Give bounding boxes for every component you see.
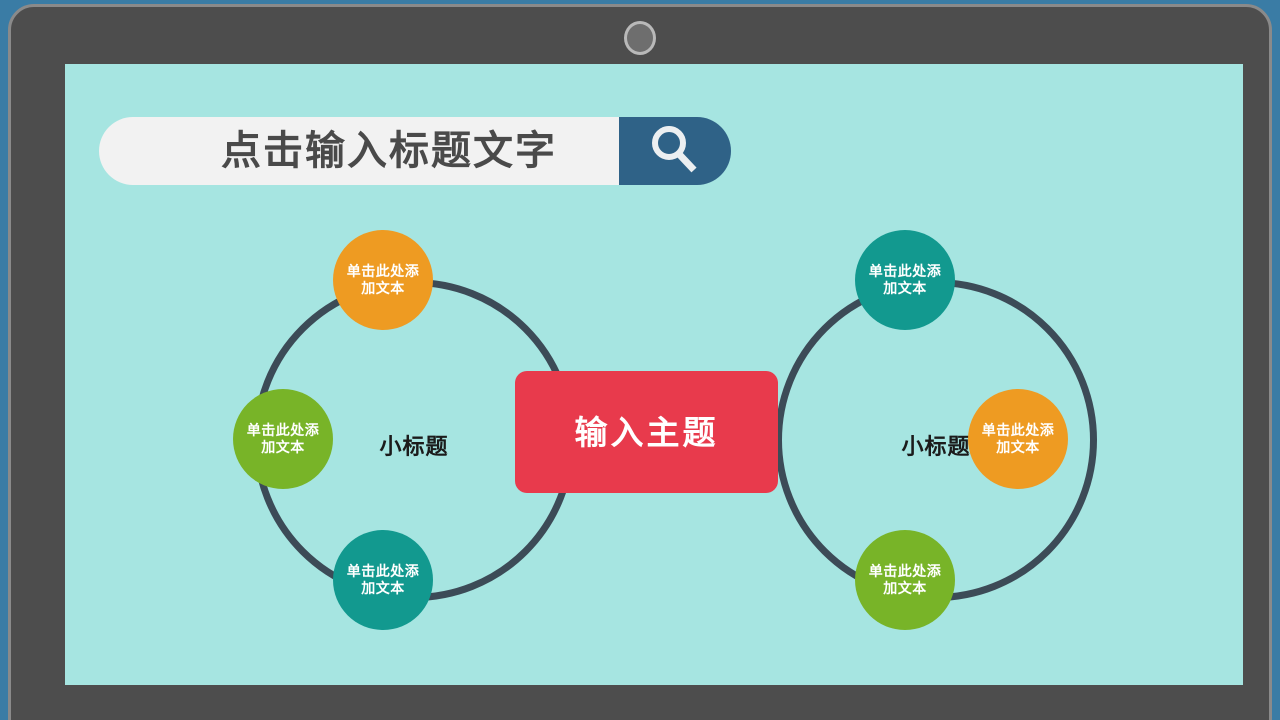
slide-stage: 点击输入标题文字 小标题 小标题 bbox=[0, 0, 1280, 720]
node-left-bottom-line2: 加文本 bbox=[361, 580, 405, 596]
node-right-top-line2: 加文本 bbox=[883, 280, 927, 296]
node-right-bottom-line2: 加文本 bbox=[883, 580, 927, 596]
center-topic-label: 输入主题 bbox=[575, 416, 719, 449]
node-left-left-label: 单击此处添加文本 bbox=[244, 422, 322, 457]
node-left-top-label: 单击此处添加文本 bbox=[344, 263, 422, 298]
node-right-right-line2: 加文本 bbox=[996, 439, 1040, 455]
ring-label-left: 小标题 bbox=[334, 429, 494, 461]
node-left-top-line1: 单击此处添 bbox=[347, 263, 420, 279]
node-right-bottom-line1: 单击此处添 bbox=[869, 563, 942, 579]
camera-lens-icon bbox=[624, 21, 656, 55]
node-right-bottom[interactable]: 单击此处添加文本 bbox=[855, 530, 955, 630]
node-left-top[interactable]: 单击此处添加文本 bbox=[333, 230, 433, 330]
node-left-left[interactable]: 单击此处添加文本 bbox=[233, 389, 333, 489]
node-left-left-line2: 加文本 bbox=[261, 439, 305, 455]
node-right-top[interactable]: 单击此处添加文本 bbox=[855, 230, 955, 330]
node-right-right-line1: 单击此处添 bbox=[982, 422, 1055, 438]
node-right-top-line1: 单击此处添 bbox=[869, 263, 942, 279]
dual-ring-diagram: 小标题 小标题 单击此处添加文本 单击此处添加文本 单击此处添加文本 单击此处添… bbox=[65, 64, 1243, 685]
tablet-device-frame: 点击输入标题文字 小标题 小标题 bbox=[8, 4, 1272, 720]
node-left-bottom-line1: 单击此处添 bbox=[347, 563, 420, 579]
node-left-bottom-label: 单击此处添加文本 bbox=[344, 563, 422, 598]
center-topic-box[interactable]: 输入主题 bbox=[515, 371, 778, 493]
node-right-right-label: 单击此处添加文本 bbox=[979, 422, 1057, 457]
node-right-top-label: 单击此处添加文本 bbox=[866, 263, 944, 298]
tablet-screen: 点击输入标题文字 小标题 小标题 bbox=[65, 64, 1243, 685]
node-left-top-line2: 加文本 bbox=[361, 280, 405, 296]
node-right-bottom-label: 单击此处添加文本 bbox=[866, 563, 944, 598]
node-left-left-line1: 单击此处添 bbox=[247, 422, 320, 438]
node-left-bottom[interactable]: 单击此处添加文本 bbox=[333, 530, 433, 630]
node-right-right[interactable]: 单击此处添加文本 bbox=[968, 389, 1068, 489]
